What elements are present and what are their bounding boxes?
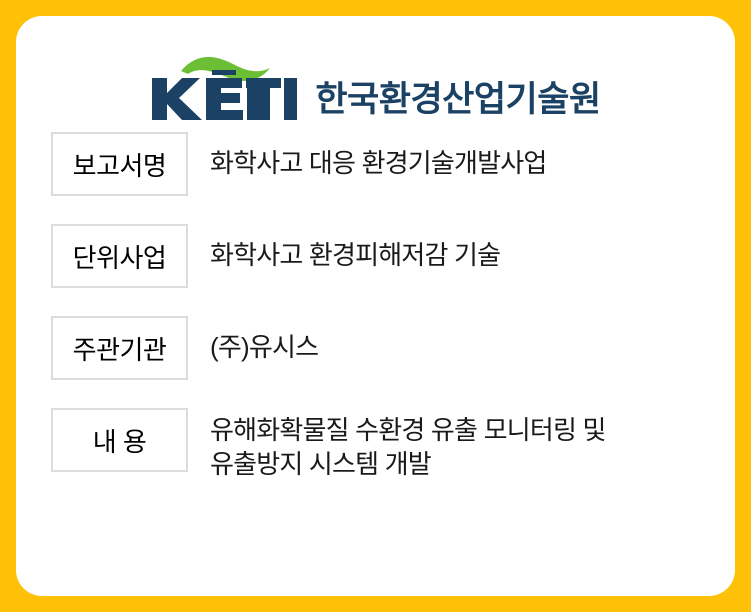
row-label-host-organization: 주관기관	[51, 316, 188, 380]
table-row: 내 용 유해화확물질 수환경 유출 모니터링 및 유출방지 시스템 개발	[51, 408, 705, 482]
poster-yellow-frame: 한국환경산업기술원 보고서명 화학사고 대응 환경기술개발사업 단위사업 화학사…	[0, 0, 751, 612]
organization-name: 한국환경산업기술원	[315, 82, 600, 117]
report-cover-card: 한국환경산업기술원 보고서명 화학사고 대응 환경기술개발사업 단위사업 화학사…	[16, 16, 735, 596]
table-row: 보고서명 화학사고 대응 환경기술개발사업	[51, 132, 705, 196]
row-value-contents: 유해화확물질 수환경 유출 모니터링 및 유출방지 시스템 개발	[188, 408, 705, 482]
row-label-report-title: 보고서명	[51, 132, 188, 196]
table-row: 주관기관 (주)유시스	[51, 316, 705, 380]
logo-header: 한국환경산업기술원	[16, 42, 735, 120]
report-info-table: 보고서명 화학사고 대응 환경기술개발사업 단위사업 화학사고 환경피해저감 기…	[51, 132, 705, 482]
row-value-report-title: 화학사고 대응 환경기술개발사업	[188, 132, 705, 196]
keiti-logo-icon	[150, 54, 298, 120]
table-row: 단위사업 화학사고 환경피해저감 기술	[51, 224, 705, 288]
row-label-contents: 내 용	[51, 408, 188, 472]
row-value-host-organization: (주)유시스	[188, 316, 705, 380]
row-value-unit-project: 화학사고 환경피해저감 기술	[188, 224, 705, 288]
row-label-unit-project: 단위사업	[51, 224, 188, 288]
